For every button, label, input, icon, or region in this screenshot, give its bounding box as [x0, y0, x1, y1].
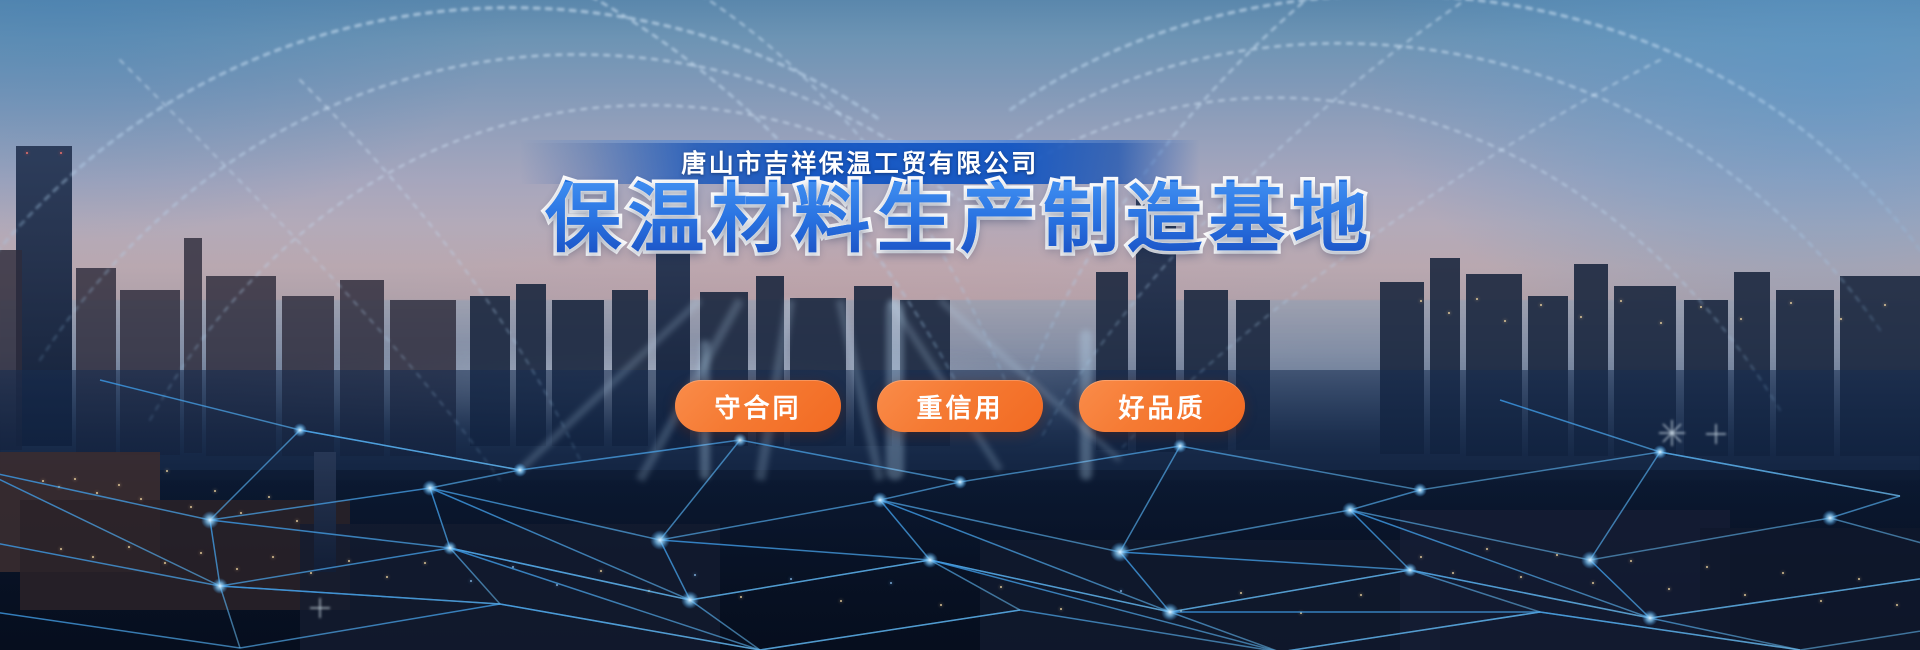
- tag-pill-quality[interactable]: 好品质: [1079, 380, 1245, 432]
- tag-list: 守合同 重信用 好品质: [0, 380, 1920, 432]
- headline: 保温材料生产制造基地: [0, 182, 1920, 258]
- tag-pill-contract[interactable]: 守合同: [675, 380, 841, 432]
- banner-content: 唐山市吉祥保温工贸有限公司 保温材料生产制造基地 保温材料生产制造基地 守合同 …: [0, 0, 1920, 650]
- hero-banner: 唐山市吉祥保温工贸有限公司 保温材料生产制造基地 保温材料生产制造基地 守合同 …: [0, 0, 1920, 650]
- tag-pill-credit[interactable]: 重信用: [877, 380, 1043, 432]
